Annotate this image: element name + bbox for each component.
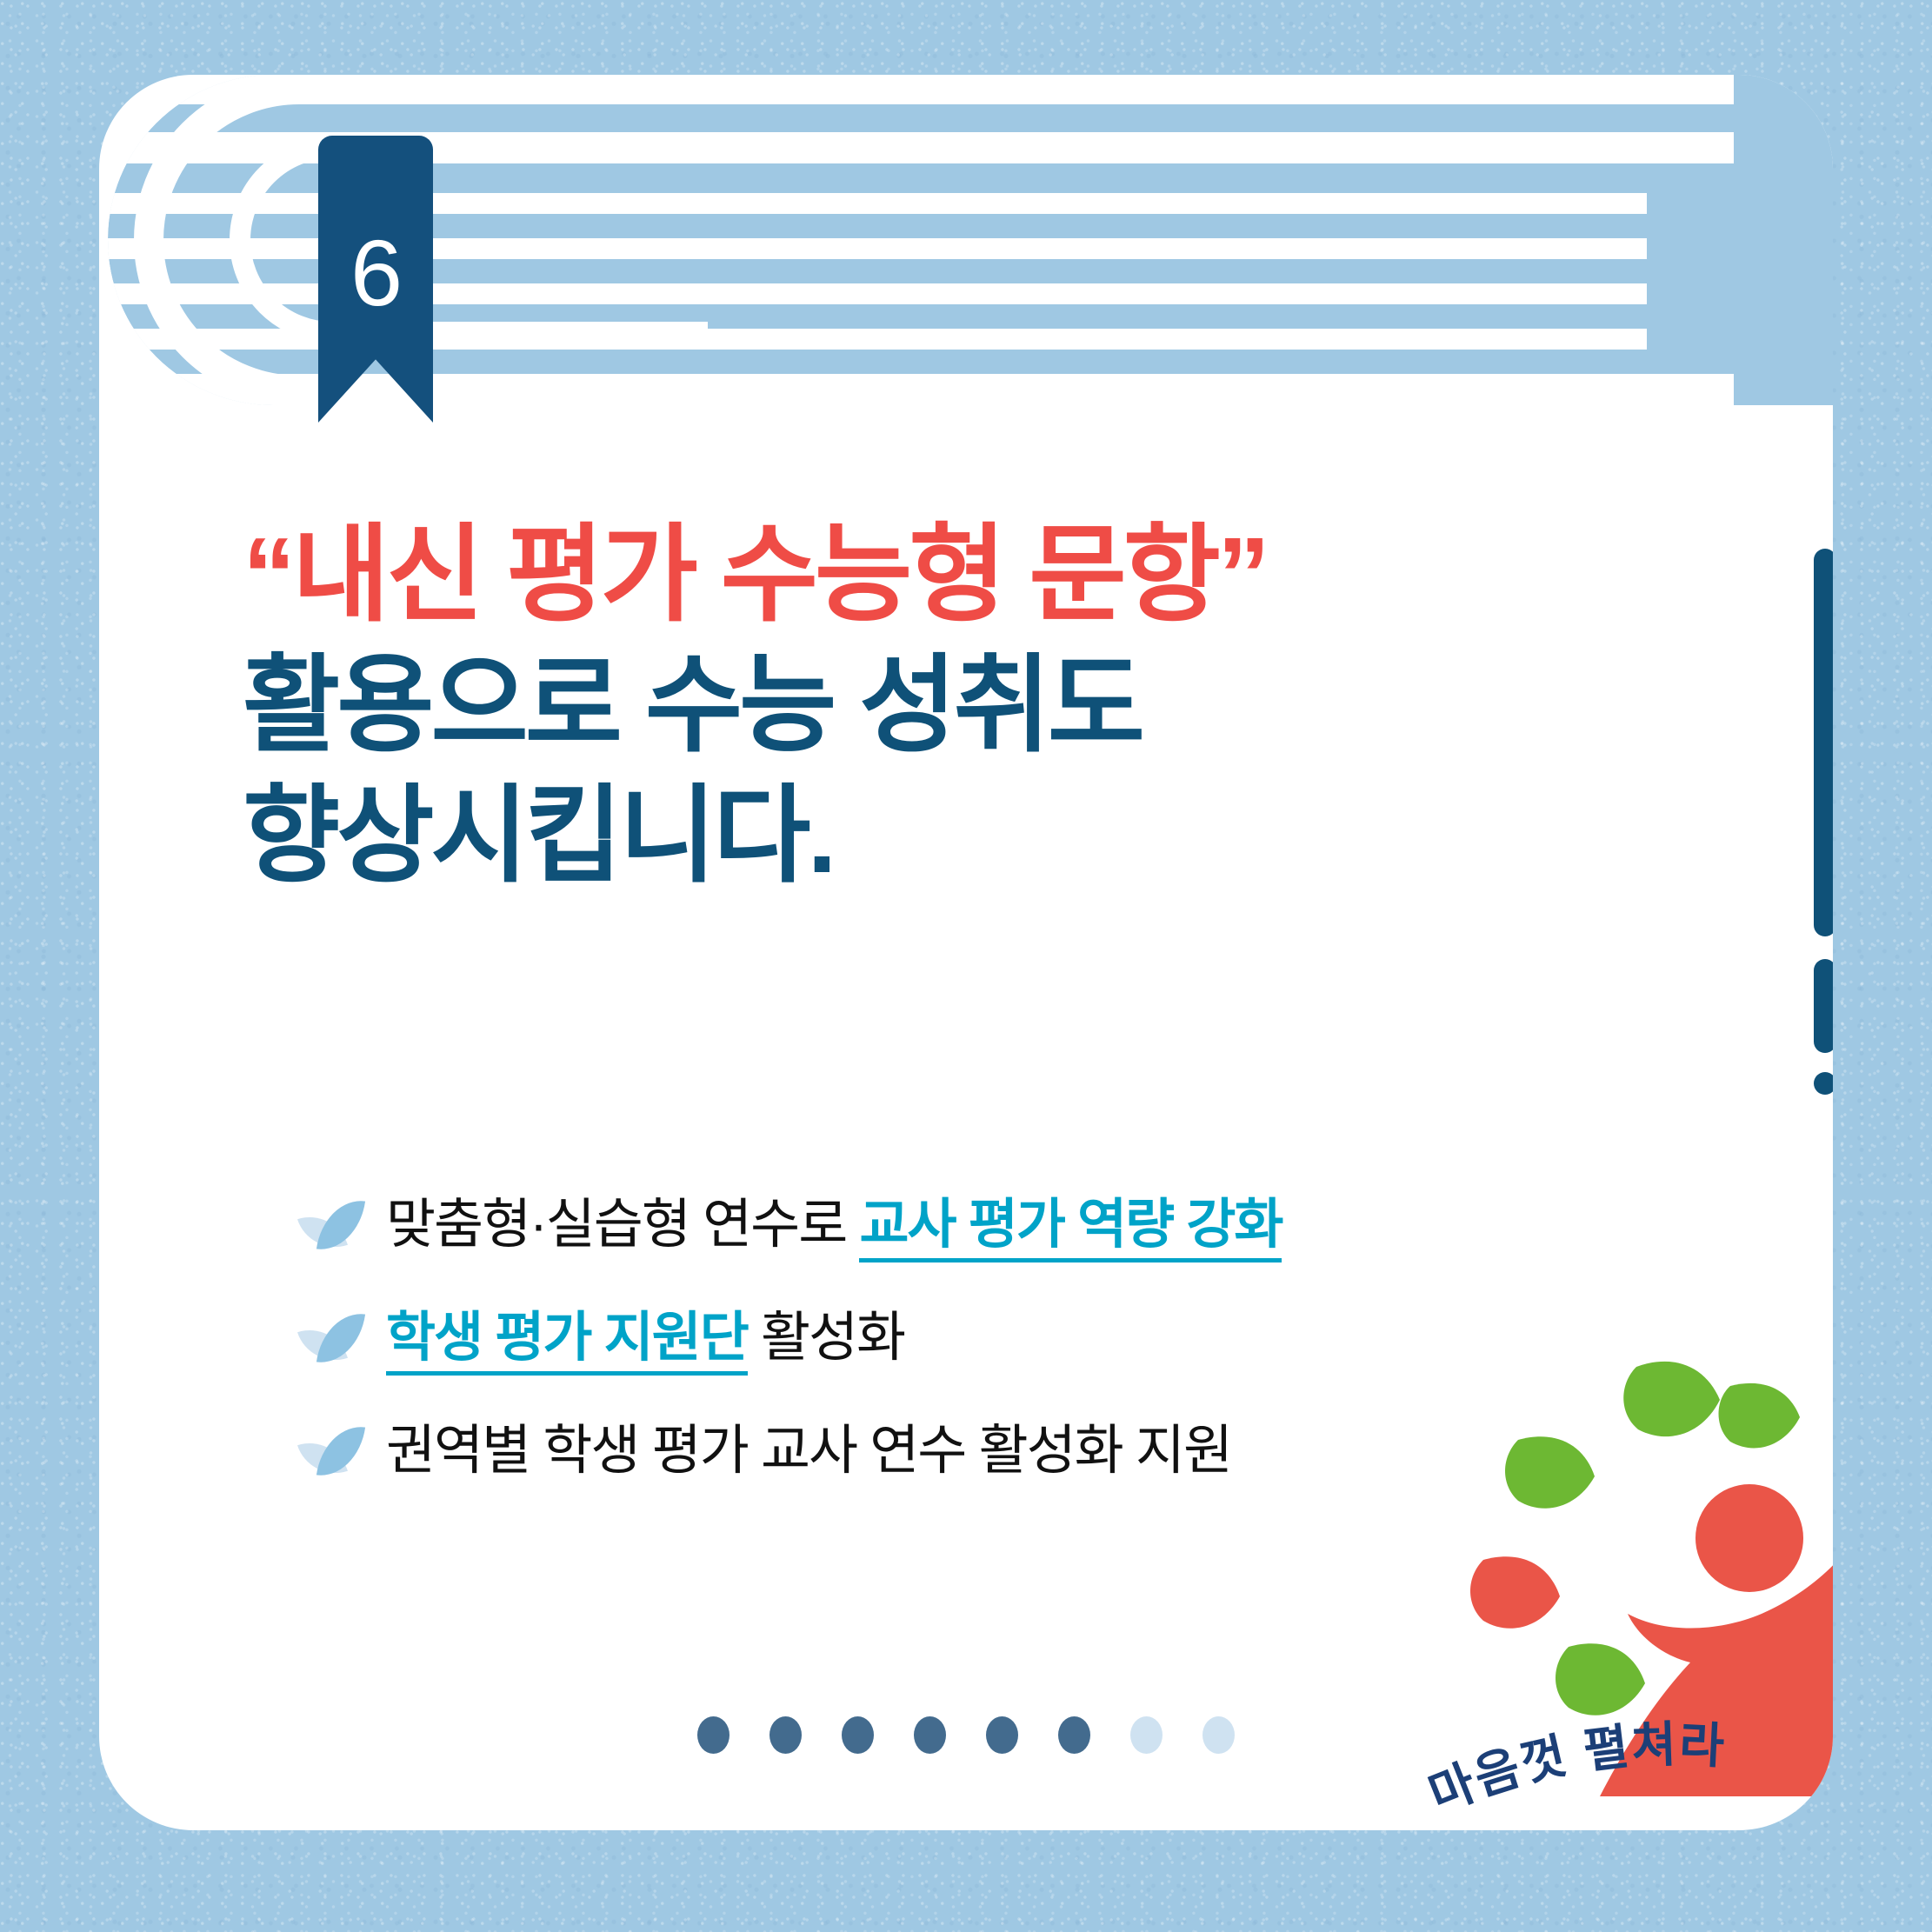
headline-block: “내신 평가 수능형 문항” 활용으로 수능 성취도 향상시킵니다.	[243, 510, 1721, 901]
list-item: 맞춤형·실습형 연수로 교사 평가 역량 강화	[301, 1169, 1692, 1282]
bullet-plain-1a: 맞춤형·실습형 연수로	[386, 1195, 859, 1255]
content-card: 6 “내신 평가 수능형 문항” 활용으로 수능 성취도 향상시킵니다. 맞춤형…	[99, 75, 1833, 1830]
pagination-dot-5[interactable]	[986, 1716, 1018, 1754]
exclamation-mark-decoration	[1814, 549, 1833, 1095]
pagination-dot-8[interactable]	[1203, 1716, 1235, 1754]
bullet-highlight-1: 교사 평가 역량 강화	[859, 1195, 1282, 1262]
exclamation-dot	[1814, 1072, 1833, 1095]
bullet-highlight-2: 학생 평가 지원단	[386, 1308, 748, 1376]
logo-red-leaf	[1470, 1556, 1560, 1628]
svg-text:마음껏 펼쳐라: 마음껏 펼쳐라	[1422, 1716, 1728, 1822]
headline-line-2: 활용으로 수능 성취도	[243, 640, 1721, 770]
pagination-dot-3[interactable]	[842, 1716, 874, 1754]
leaf-bullet-icon	[301, 1419, 365, 1483]
pagination-dot-4[interactable]	[914, 1716, 946, 1754]
headline-line-3: 향상시킵니다.	[243, 770, 1721, 901]
logo-head	[1695, 1484, 1803, 1592]
headline-line-1: “내신 평가 수능형 문항”	[243, 510, 1721, 640]
pagination-dot-7[interactable]	[1130, 1716, 1163, 1754]
bookmark-ribbon: 6	[318, 136, 433, 423]
bullet-text-2: 학생 평가 지원단 활성화	[386, 1307, 904, 1369]
bullet-plain-2b: 활성화	[748, 1308, 904, 1368]
exclamation-bar-long	[1814, 549, 1833, 936]
logo-tagline: 마음껏 펼쳐라	[1402, 1675, 1833, 1830]
step-number: 6	[318, 226, 433, 320]
pagination-dot-2[interactable]	[769, 1716, 802, 1754]
exclamation-bar-short	[1814, 959, 1833, 1053]
pagination-dot-1[interactable]	[697, 1716, 729, 1754]
logo-tagline-text: 마음껏 펼쳐라	[1422, 1716, 1728, 1822]
bullet-text-3: 권역별 학생 평가 교사 연수 활성화 지원	[386, 1420, 1231, 1482]
leaf-bullet-icon	[301, 1306, 365, 1370]
pagination-dot-6[interactable]	[1058, 1716, 1090, 1754]
leaf-bullet-icon	[301, 1193, 365, 1257]
bullet-text-1: 맞춤형·실습형 연수로 교사 평가 역량 강화	[386, 1194, 1282, 1256]
bullet-plain-3a: 권역별 학생 평가 교사 연수 활성화 지원	[386, 1421, 1231, 1481]
